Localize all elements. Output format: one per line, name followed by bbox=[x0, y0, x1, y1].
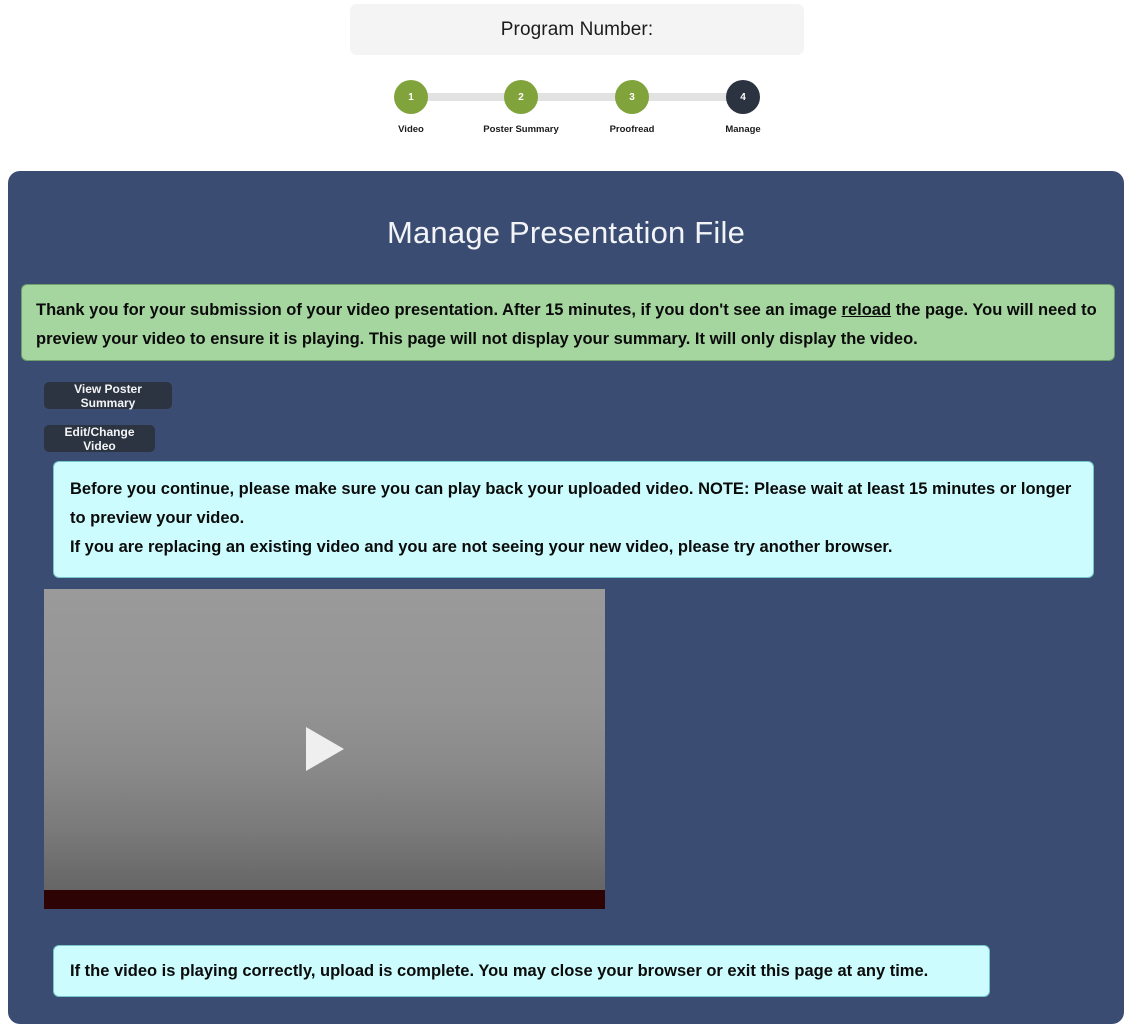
view-poster-summary-button[interactable]: View Poster Summary bbox=[44, 382, 172, 409]
stepper-step-proofread[interactable]: 3 Proofread bbox=[612, 80, 652, 135]
upload-complete-alert: If the video is playing correctly, uploa… bbox=[53, 945, 990, 997]
success-alert-text: Thank you for your submission of your vi… bbox=[36, 296, 1100, 354]
step-label: Proofread bbox=[600, 124, 664, 135]
play-triangle-icon[interactable] bbox=[306, 727, 344, 771]
playback-instructions-line-1: Before you continue, please make sure yo… bbox=[70, 475, 1077, 533]
step-label: Manage bbox=[713, 124, 773, 135]
step-number-badge: 2 bbox=[504, 80, 538, 114]
stepper-step-video[interactable]: 1 Video bbox=[391, 80, 431, 135]
manage-presentation-panel: Manage Presentation File Thank you for y… bbox=[8, 171, 1124, 1024]
stepper-track bbox=[411, 93, 743, 101]
video-player[interactable] bbox=[44, 589, 605, 909]
step-label: Poster Summary bbox=[481, 124, 561, 135]
progress-stepper: 1 Video 2 Poster Summary 3 Proofread 4 M… bbox=[391, 80, 763, 142]
step-number-badge: 4 bbox=[726, 80, 760, 114]
stepper-step-manage[interactable]: 4 Manage bbox=[723, 80, 763, 135]
page-title: Manage Presentation File bbox=[8, 215, 1124, 251]
step-number-badge: 3 bbox=[615, 80, 649, 114]
program-number-bar: Program Number: bbox=[350, 4, 804, 55]
playback-instructions-line-2: If you are replacing an existing video a… bbox=[70, 533, 1077, 562]
edit-change-video-button[interactable]: Edit/Change Video bbox=[44, 425, 155, 452]
step-label: Video bbox=[383, 124, 439, 135]
success-text-before-link: Thank you for your submission of your vi… bbox=[36, 301, 842, 319]
program-number-label: Program Number: bbox=[501, 19, 654, 41]
video-progress-bar[interactable] bbox=[44, 890, 605, 909]
submission-success-alert: Thank you for your submission of your vi… bbox=[21, 284, 1115, 361]
playback-instructions-alert: Before you continue, please make sure yo… bbox=[53, 461, 1094, 578]
reload-link[interactable]: reload bbox=[842, 301, 892, 319]
stepper-step-poster-summary[interactable]: 2 Poster Summary bbox=[501, 80, 541, 135]
step-number-badge: 1 bbox=[394, 80, 428, 114]
upload-complete-text: If the video is playing correctly, uploa… bbox=[70, 957, 973, 986]
